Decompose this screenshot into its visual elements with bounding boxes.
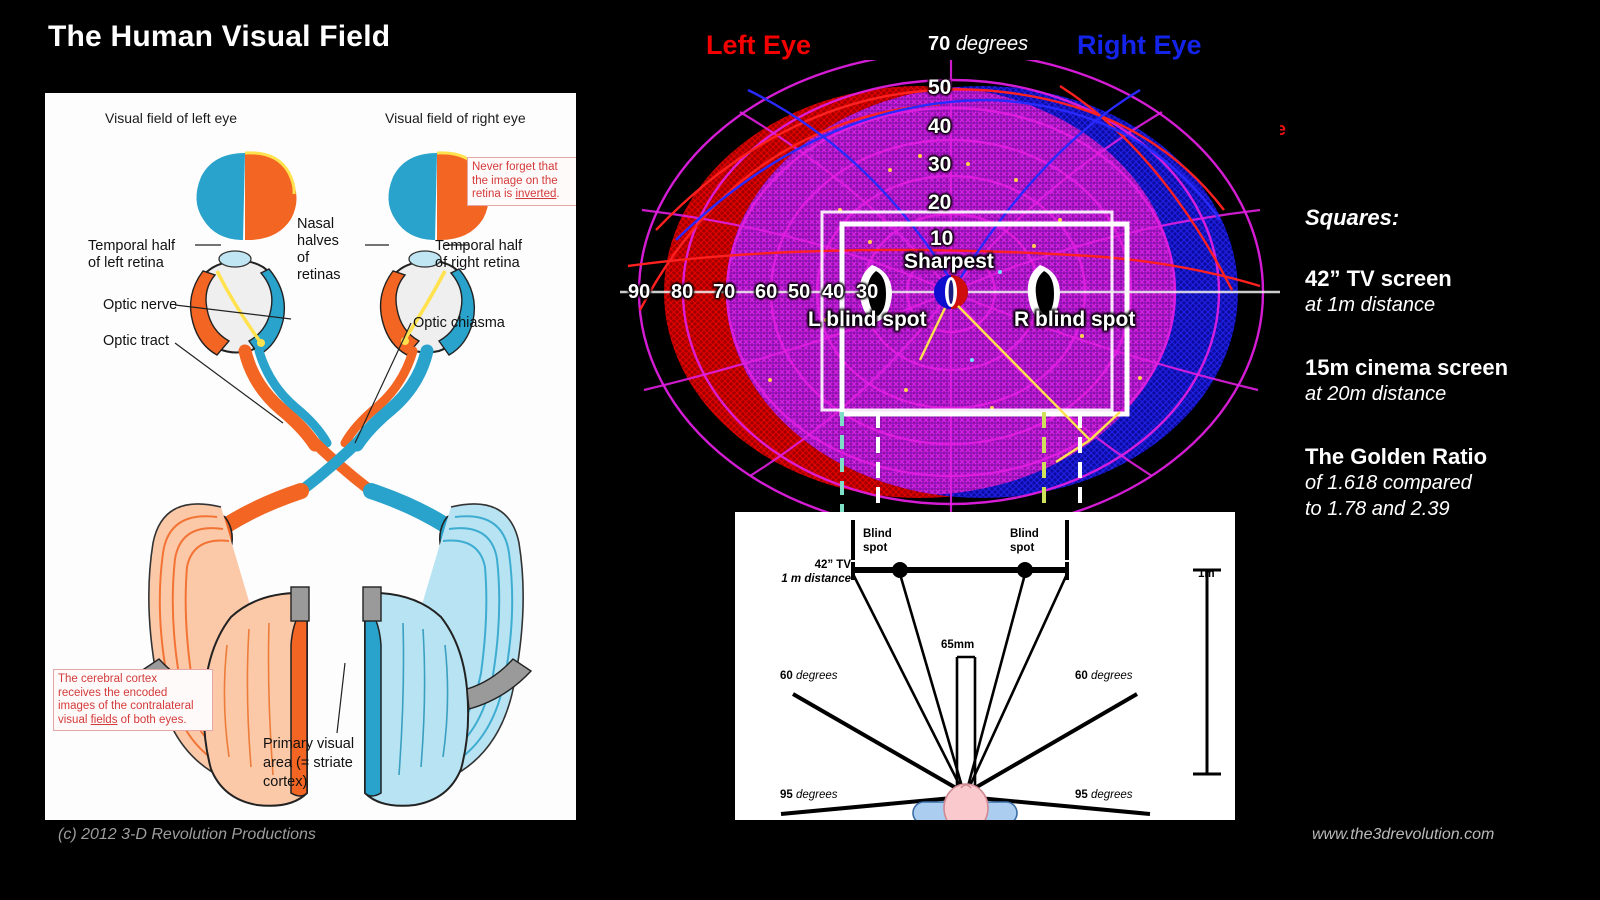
right-blind-spot-label: R blind spot (1014, 308, 1135, 332)
top-degree-label: 70 degrees (928, 33, 1028, 56)
label-line: spot (863, 541, 892, 555)
note-line: receives the encoded (58, 687, 208, 701)
label-line: Temporal half (88, 238, 175, 255)
note-line: to 1.78 and 2.39 (1305, 498, 1450, 520)
label-optic-tract: Optic tract (103, 333, 169, 350)
label-line: 1 m distance (781, 573, 851, 585)
note-cinema-bold: 15m cinema screen (1305, 354, 1595, 381)
viewing-geometry-diagram-panel: Blind spot Blind spot 42” TV 1 m distanc… (735, 512, 1235, 820)
caption-left-eye-field: Visual field of left eye (105, 110, 237, 126)
note-line: visual fields of both eyes. (58, 714, 208, 728)
note-emphasis: fields (91, 714, 118, 726)
note-tv-bold: 42” TV screen (1305, 265, 1595, 292)
note-line: retina is inverted. (472, 188, 576, 202)
label-line: of left retina (88, 255, 175, 272)
label-nasal-halves-of-retinas: Nasal halves of retinas (297, 216, 341, 284)
sharpest-label: Sharpest (904, 250, 994, 274)
note-text: retina is (472, 188, 515, 200)
notes-heading: Squares: (1305, 205, 1595, 231)
note-line: The cerebral cortex (58, 673, 208, 687)
note-retina-inverted: Never forget that the image on the retin… (467, 157, 576, 206)
vf-tick-h-30: 30 (856, 281, 878, 304)
label-line: cortex) (263, 773, 354, 792)
vf-tick-h-70: 70 (713, 281, 735, 304)
label-line: retinas (297, 267, 341, 284)
left-blind-spot-label: L blind spot (808, 308, 927, 332)
top-degree-unit: degrees (956, 33, 1028, 55)
label-optic-nerve: Optic nerve (103, 297, 177, 314)
angle-unit: degrees (1091, 789, 1133, 801)
label-line: halves (297, 233, 341, 250)
angle-95-left: 95 degrees (780, 788, 838, 802)
label-optic-chiasma: Optic chiasma (413, 315, 505, 332)
caption-right-eye-field: Visual field of right eye (385, 110, 526, 126)
note-cinema-italic: at 20m distance (1305, 381, 1595, 407)
vf-tick-h-90: 90 (628, 281, 650, 304)
vf-tick-h-60: 60 (755, 281, 777, 304)
angle-unit: degrees (796, 789, 838, 801)
visual-pathway-diagram-panel: Visual field of left eye Visual field of… (45, 93, 576, 820)
label-line: of (297, 250, 341, 267)
label-line: Blind (863, 527, 892, 541)
vf-tick-50: 50 (928, 76, 951, 100)
vf-tick-h-50: 50 (788, 281, 810, 304)
note-line: of 1.618 compared (1305, 472, 1472, 494)
label-line: Blind (1010, 527, 1039, 541)
label-line: area (= striate (263, 754, 354, 773)
vf-tick-20: 20 (928, 191, 951, 215)
note-cerebral-cortex: The cerebral cortex receives the encoded… (53, 669, 213, 731)
label-line: Primary visual (263, 735, 354, 754)
angle-value: 60 (780, 670, 793, 682)
label-primary-visual-area: Primary visual area (= striate cortex) (263, 735, 354, 792)
note-emphasis: inverted (515, 188, 556, 200)
note-golden-italic: of 1.618 compared to 1.78 and 2.39 (1305, 470, 1595, 522)
vf-tick-10: 10 (930, 227, 953, 251)
vf-tick-h-40: 40 (822, 281, 844, 304)
scale-bar-label: 1m (1198, 567, 1215, 581)
angle-unit: degrees (796, 670, 838, 682)
left-eye-title: Left Eye (706, 30, 811, 61)
label-temporal-half-right-retina: Temporal half of right retina (435, 238, 522, 272)
note-line: Never forget that (472, 161, 576, 175)
label-line: spot (1010, 541, 1039, 555)
note-text-end: . (556, 188, 559, 200)
vf-tick-30: 30 (928, 153, 951, 177)
website-url: www.the3drevolution.com (1312, 826, 1494, 844)
label-line: of right retina (435, 255, 522, 272)
note-text: visual (58, 714, 91, 726)
note-golden-bold: The Golden Ratio (1305, 443, 1595, 470)
note-tv-italic: at 1m distance (1305, 292, 1595, 318)
page-title: The Human Visual Field (48, 20, 390, 54)
label-temporal-half-left-retina: Temporal half of left retina (88, 238, 175, 272)
blind-spot-label-right: Blind spot (1010, 527, 1039, 555)
copyright-text: (c) 2012 3-D Revolution Productions (58, 826, 316, 844)
angle-60-left: 60 degrees (780, 669, 838, 683)
top-degree-value: 70 (928, 33, 950, 55)
angle-unit: degrees (1091, 670, 1133, 682)
label-line: Nasal (297, 216, 341, 233)
visual-field-plot: 50 40 30 20 10 90 80 70 60 50 40 30 Shar… (620, 60, 1280, 530)
notes-column: Squares: 42” TV screen at 1m distance 15… (1305, 205, 1595, 522)
vf-tick-40: 40 (928, 115, 951, 139)
note-line: images of the contralateral (58, 700, 208, 714)
pupil-distance-label: 65mm (941, 638, 974, 652)
note-line: the image on the (472, 175, 576, 189)
angle-95-right: 95 degrees (1075, 788, 1133, 802)
blind-spot-label-left: Blind spot (863, 527, 892, 555)
right-eye-title: Right Eye (1077, 30, 1202, 61)
angle-value: 60 (1075, 670, 1088, 682)
slide-root: The Human Visual Field (0, 0, 1600, 900)
angle-value: 95 (780, 789, 793, 801)
angle-value: 95 (1075, 789, 1088, 801)
label-line: 42” TV (815, 559, 851, 571)
angle-60-right: 60 degrees (1075, 669, 1133, 683)
tv-distance-label: 42” TV 1 m distance (773, 558, 851, 586)
note-text-end: of both eyes. (117, 714, 186, 726)
label-line: Temporal half (435, 238, 522, 255)
vf-tick-h-80: 80 (671, 281, 693, 304)
